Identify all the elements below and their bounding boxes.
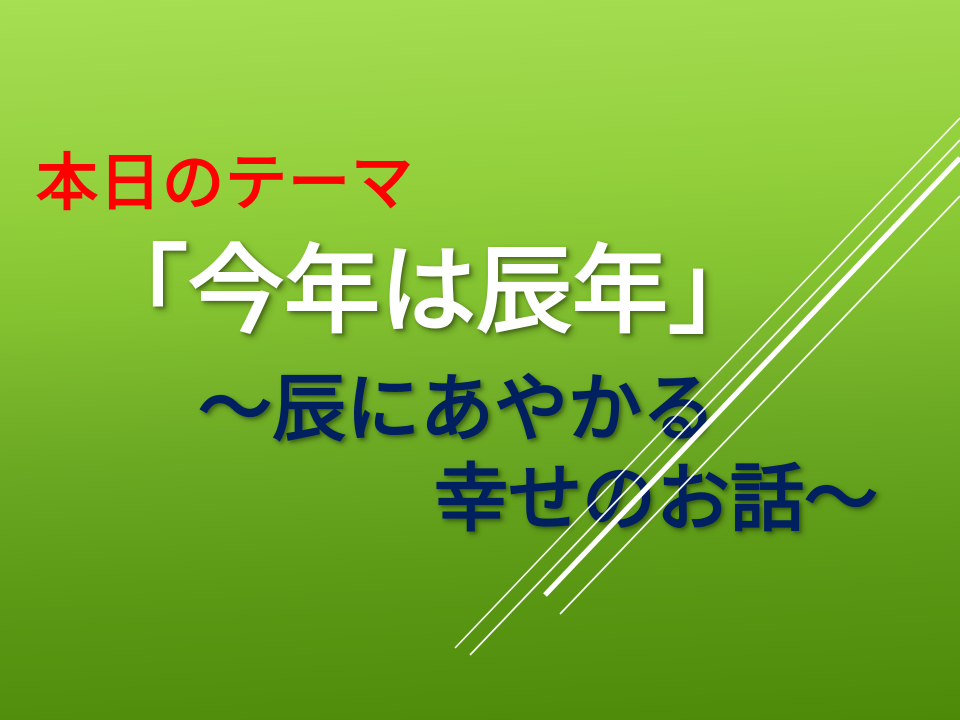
subtitle-line-2: 幸せのお話〜: [434, 462, 878, 536]
main-title: 「今年は辰年」: [92, 243, 764, 339]
slide-text-layer: 本日のテーマ 「今年は辰年」 〜辰にあやかる 幸せのお話〜: [0, 0, 960, 720]
presentation-slide: 本日のテーマ 「今年は辰年」 〜辰にあやかる 幸せのお話〜: [0, 0, 960, 720]
theme-label: 本日のテーマ: [36, 152, 414, 214]
subtitle-line-1: 〜辰にあやかる: [198, 372, 716, 446]
